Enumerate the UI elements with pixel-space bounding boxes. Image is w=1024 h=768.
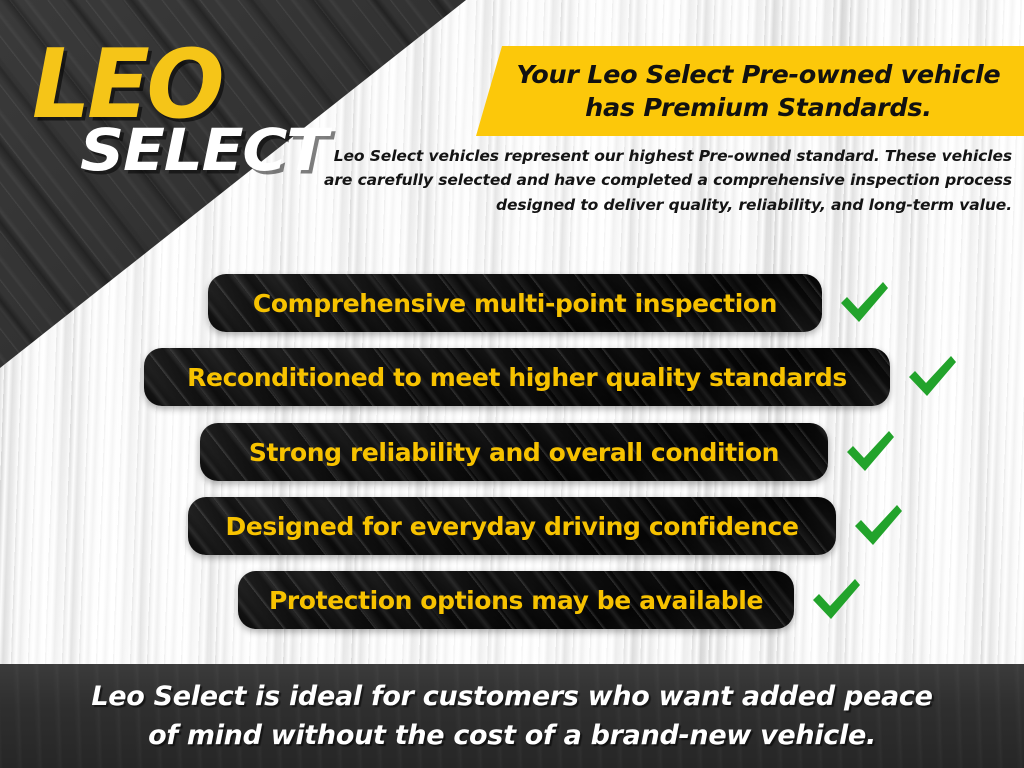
footer-text: Leo Select is ideal for customers who wa… xyxy=(72,677,952,755)
check-icon xyxy=(904,352,960,402)
feature-row: Comprehensive multi-point inspection xyxy=(208,274,892,332)
check-icon xyxy=(850,501,906,551)
feature-pill[interactable]: Protection options may be available xyxy=(238,571,794,629)
check-icon xyxy=(842,427,898,477)
headline-text: Your Leo Select Pre-owned vehicle has Pr… xyxy=(494,58,1007,125)
feature-row: Designed for everyday driving confidence xyxy=(188,497,906,555)
logo-secondary-text: SELECT xyxy=(80,122,327,180)
headline-line-2: has Premium Standards. xyxy=(585,93,931,122)
headline-line-1: Your Leo Select Pre-owned vehicle xyxy=(516,60,1000,89)
feature-row: Protection options may be available xyxy=(238,571,864,629)
feature-pill[interactable]: Reconditioned to meet higher quality sta… xyxy=(144,348,890,406)
feature-label: Strong reliability and overall condition xyxy=(249,438,779,467)
headline-banner: Your Leo Select Pre-owned vehicle has Pr… xyxy=(476,46,1024,136)
footer-band: Leo Select is ideal for customers who wa… xyxy=(0,664,1024,768)
check-icon xyxy=(808,575,864,625)
feature-label: Reconditioned to meet higher quality sta… xyxy=(187,363,847,392)
feature-pill[interactable]: Strong reliability and overall condition xyxy=(200,423,828,481)
feature-pill[interactable]: Comprehensive multi-point inspection xyxy=(208,274,822,332)
check-icon xyxy=(836,278,892,328)
intro-paragraph: Leo Select vehicles represent our highes… xyxy=(312,144,1012,217)
brand-logo: LEO SELECT xyxy=(30,38,360,173)
feature-row: Reconditioned to meet higher quality sta… xyxy=(144,348,960,406)
feature-pill[interactable]: Designed for everyday driving confidence xyxy=(188,497,836,555)
feature-label: Designed for everyday driving confidence xyxy=(225,512,798,541)
feature-row: Strong reliability and overall condition xyxy=(200,423,898,481)
leo-select-poster: LEO SELECT Your Leo Select Pre-owned veh… xyxy=(0,0,1024,768)
feature-label: Protection options may be available xyxy=(269,586,763,615)
feature-list: Comprehensive multi-point inspection Rec… xyxy=(0,266,1024,646)
feature-label: Comprehensive multi-point inspection xyxy=(253,289,777,318)
